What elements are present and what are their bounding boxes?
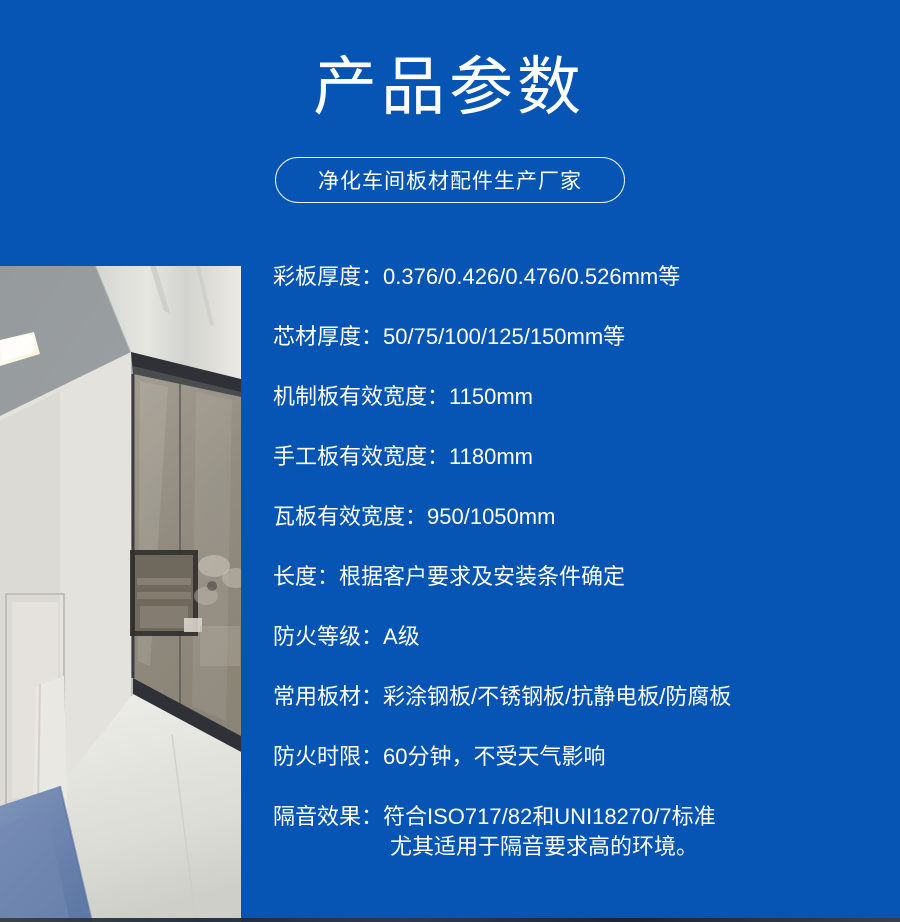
spec-value: A级 <box>383 624 420 649</box>
spec-row: 隔音效果：符合ISO717/82和UNI18270/7标准 尤其适用于隔音要求高… <box>273 802 883 862</box>
spec-label: 长度： <box>273 564 339 589</box>
spec-row: 常用板材：彩涂钢板/不锈钢板/抗静电板/防腐板 <box>273 682 883 742</box>
cleanroom-corridor-photo <box>0 266 241 922</box>
bottom-edge-strip <box>0 918 900 922</box>
spec-row: 瓦板有效宽度：950/1050mm <box>273 502 883 562</box>
spec-value: 60分钟，不受天气影响 <box>383 744 605 769</box>
cleanroom-corridor-illustration <box>0 266 241 922</box>
product-parameters-page: 产品参数 净化车间板材配件生产厂家 <box>0 0 900 922</box>
spec-row: 手工板有效宽度：1180mm <box>273 442 883 502</box>
spec-label: 隔音效果： <box>273 804 383 829</box>
spec-value: 950/1050mm <box>427 504 555 529</box>
page-header: 产品参数 净化车间板材配件生产厂家 <box>0 0 900 240</box>
spec-value: 1150mm <box>449 384 533 409</box>
spec-value: 彩涂钢板/不锈钢板/抗静电板/防腐板 <box>383 684 731 709</box>
spec-value: 50/75/100/125/150mm等 <box>383 324 625 349</box>
spec-value-continuation: 尤其适用于隔音要求高的环境。 <box>273 832 883 862</box>
page-title: 产品参数 <box>313 52 585 124</box>
spec-label: 手工板有效宽度： <box>273 444 449 469</box>
spec-value: 0.376/0.426/0.476/0.526mm等 <box>383 264 680 289</box>
spec-label: 瓦板有效宽度： <box>273 504 427 529</box>
spec-row: 防火时限：60分钟，不受天气影响 <box>273 742 883 802</box>
spec-row: 彩板厚度：0.376/0.426/0.476/0.526mm等 <box>273 262 883 322</box>
subtitle-badge-label: 净化车间板材配件生产厂家 <box>318 165 582 195</box>
spec-value: 1180mm <box>449 444 533 469</box>
spec-label: 常用板材： <box>273 684 383 709</box>
spec-label: 防火等级： <box>273 624 383 649</box>
spec-row: 机制板有效宽度：1150mm <box>273 382 883 442</box>
spec-value: 符合ISO717/82和UNI18270/7标准 <box>383 804 716 829</box>
spec-row: 防火等级：A级 <box>273 622 883 682</box>
spec-label: 彩板厚度： <box>273 264 383 289</box>
spec-list: 彩板厚度：0.376/0.426/0.476/0.526mm等 芯材厚度：50/… <box>273 262 883 862</box>
spec-value: 根据客户要求及安装条件确定 <box>339 564 625 589</box>
spec-label: 机制板有效宽度： <box>273 384 449 409</box>
spec-row: 长度：根据客户要求及安装条件确定 <box>273 562 883 622</box>
spec-row: 芯材厚度：50/75/100/125/150mm等 <box>273 322 883 382</box>
spec-label: 防火时限： <box>273 744 383 769</box>
subtitle-badge: 净化车间板材配件生产厂家 <box>275 157 625 203</box>
spec-label: 芯材厚度： <box>273 324 383 349</box>
